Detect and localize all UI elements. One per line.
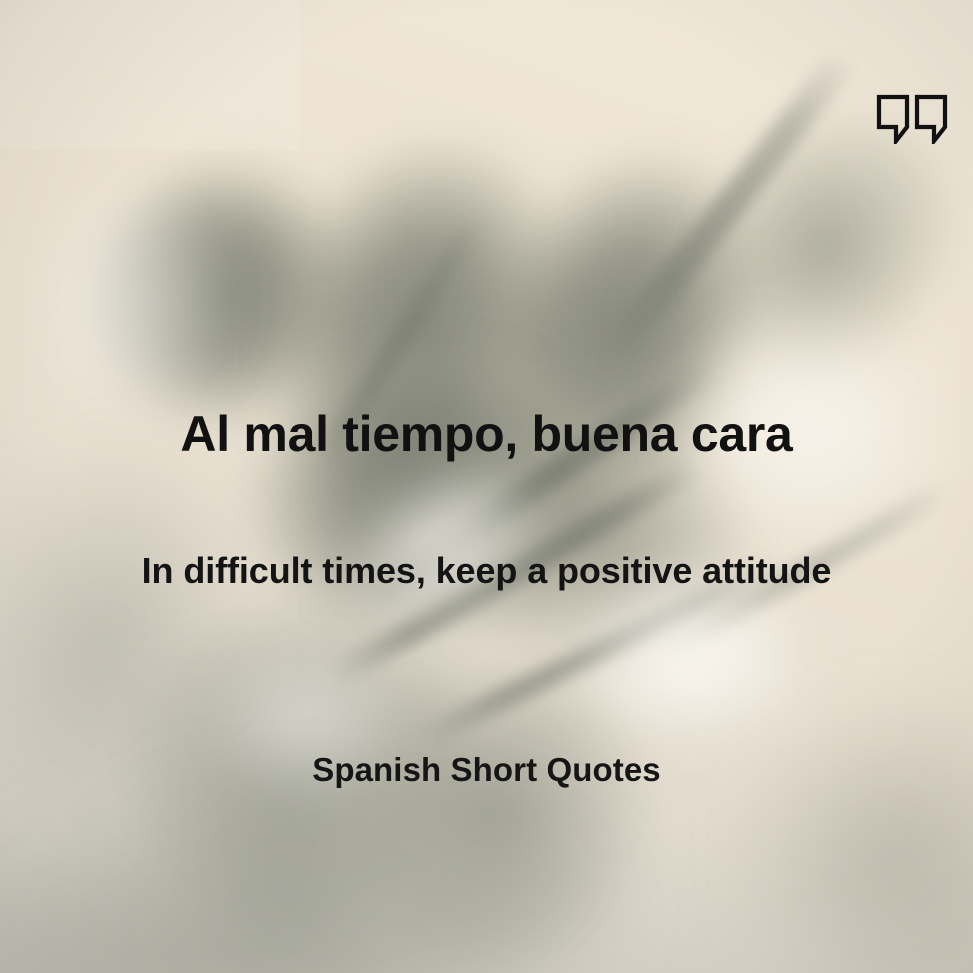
quote-attribution-text: Spanish Short Quotes bbox=[0, 750, 973, 790]
quote-original-text: Al mal tiempo, buena cara bbox=[0, 407, 973, 462]
quote-card: Al mal tiempo, buena cara In difficult t… bbox=[0, 0, 973, 973]
quote-translation-text: In difficult times, keep a positive atti… bbox=[0, 549, 973, 592]
text-stack: Al mal tiempo, buena cara In difficult t… bbox=[0, 0, 973, 973]
